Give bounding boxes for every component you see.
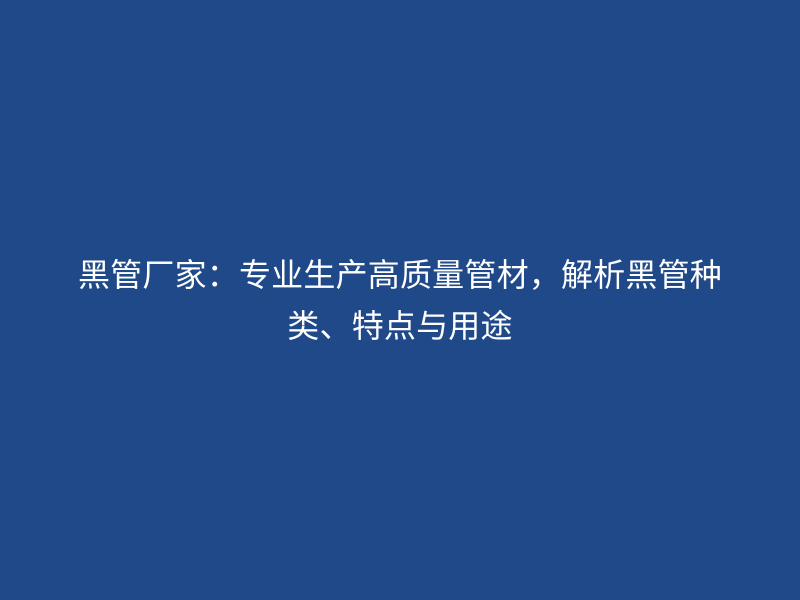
banner-background: 黑管厂家：专业生产高质量管材，解析黑管种类、特点与用途 xyxy=(0,0,800,600)
headline-block: 黑管厂家：专业生产高质量管材，解析黑管种类、特点与用途 xyxy=(0,0,800,600)
page-title: 黑管厂家：专业生产高质量管材，解析黑管种类、特点与用途 xyxy=(52,250,748,352)
